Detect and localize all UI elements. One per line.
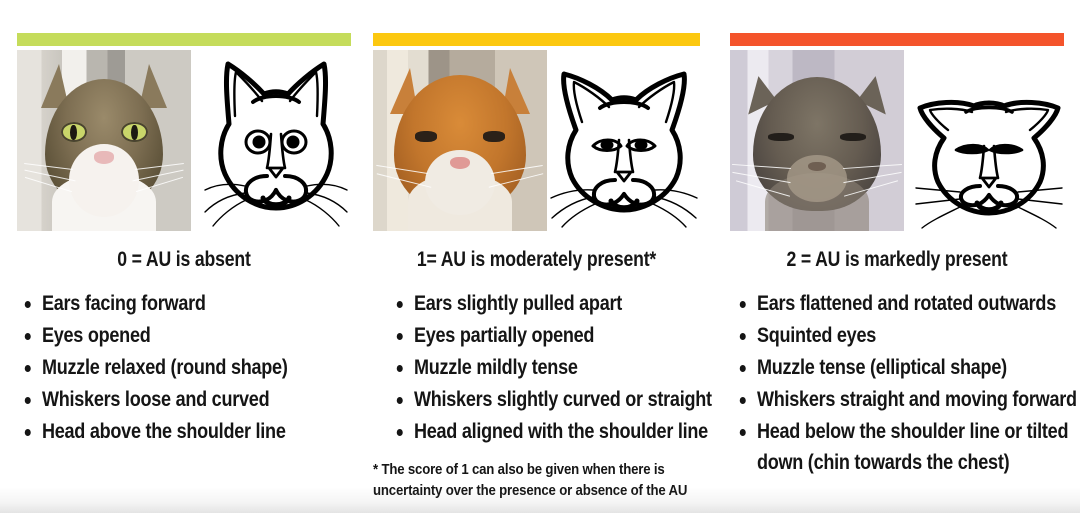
score-column-2: 2 = AU is markedly present Ears flattene… — [730, 0, 1064, 513]
cat-line-drawing-marked — [914, 50, 1064, 231]
media-row-0 — [17, 50, 351, 231]
cat-line-drawing-moderate — [548, 50, 700, 231]
cat-line-drawing-relaxed — [201, 50, 351, 231]
cat-photo-moderate — [373, 50, 547, 231]
list-item: Ears slightly pulled apart — [389, 288, 724, 319]
list-item: Whiskers straight and moving forward — [732, 384, 1080, 415]
list-item: Ears flattened and rotated outwards — [732, 288, 1080, 319]
eye-right — [840, 133, 866, 141]
cat-photo-marked — [730, 50, 904, 231]
score-column-0: 0 = AU is absent Ears facing forward Eye… — [17, 0, 351, 513]
score-heading: 2 = AU is markedly present — [757, 248, 1038, 272]
footnote: * The score of 1 can also be given when … — [373, 459, 701, 501]
list-item: Eyes partially opened — [389, 320, 724, 351]
eye-right — [483, 131, 506, 142]
list-item: Head above the shoulder line — [17, 416, 375, 447]
list-item: Muzzle tense (elliptical shape) — [732, 352, 1080, 383]
list-item: Ears facing forward — [17, 288, 375, 319]
score-column-1: 1= AU is moderately present* Ears slight… — [373, 0, 700, 513]
media-row-1 — [373, 50, 700, 231]
list-item: Eyes opened — [17, 320, 375, 351]
criteria-list: Ears facing forward Eyes opened Muzzle r… — [17, 288, 351, 448]
accent-bar-green — [17, 33, 351, 46]
list-item: Muzzle mildly tense — [389, 352, 724, 383]
list-item: Whiskers loose and curved — [17, 384, 375, 415]
criteria-list: Ears flattened and rotated outwards Squi… — [732, 288, 1066, 479]
list-item: Head aligned with the shoulder line — [389, 416, 724, 447]
cat-photo-relaxed — [17, 50, 191, 231]
accent-bar-yellow — [373, 33, 700, 46]
criteria-list: Ears slightly pulled apart Eyes partiall… — [389, 288, 700, 448]
accent-bar-red — [730, 33, 1064, 46]
eye-left — [415, 131, 438, 142]
score-heading: 1= AU is moderately present* — [399, 248, 674, 272]
list-item: Muzzle relaxed (round shape) — [17, 352, 375, 383]
list-item: Head below the shoulder line or tilted d… — [732, 416, 1080, 478]
eye-right — [121, 122, 147, 142]
media-row-2 — [730, 50, 1064, 231]
list-item: Whiskers slightly curved or straight — [389, 384, 724, 415]
eye-left — [61, 122, 87, 142]
score-heading: 0 = AU is absent — [44, 248, 325, 272]
list-item: Squinted eyes — [732, 320, 1080, 351]
eye-left — [768, 133, 794, 141]
scoring-guide-slide: 0 = AU is absent Ears facing forward Eye… — [0, 0, 1080, 513]
